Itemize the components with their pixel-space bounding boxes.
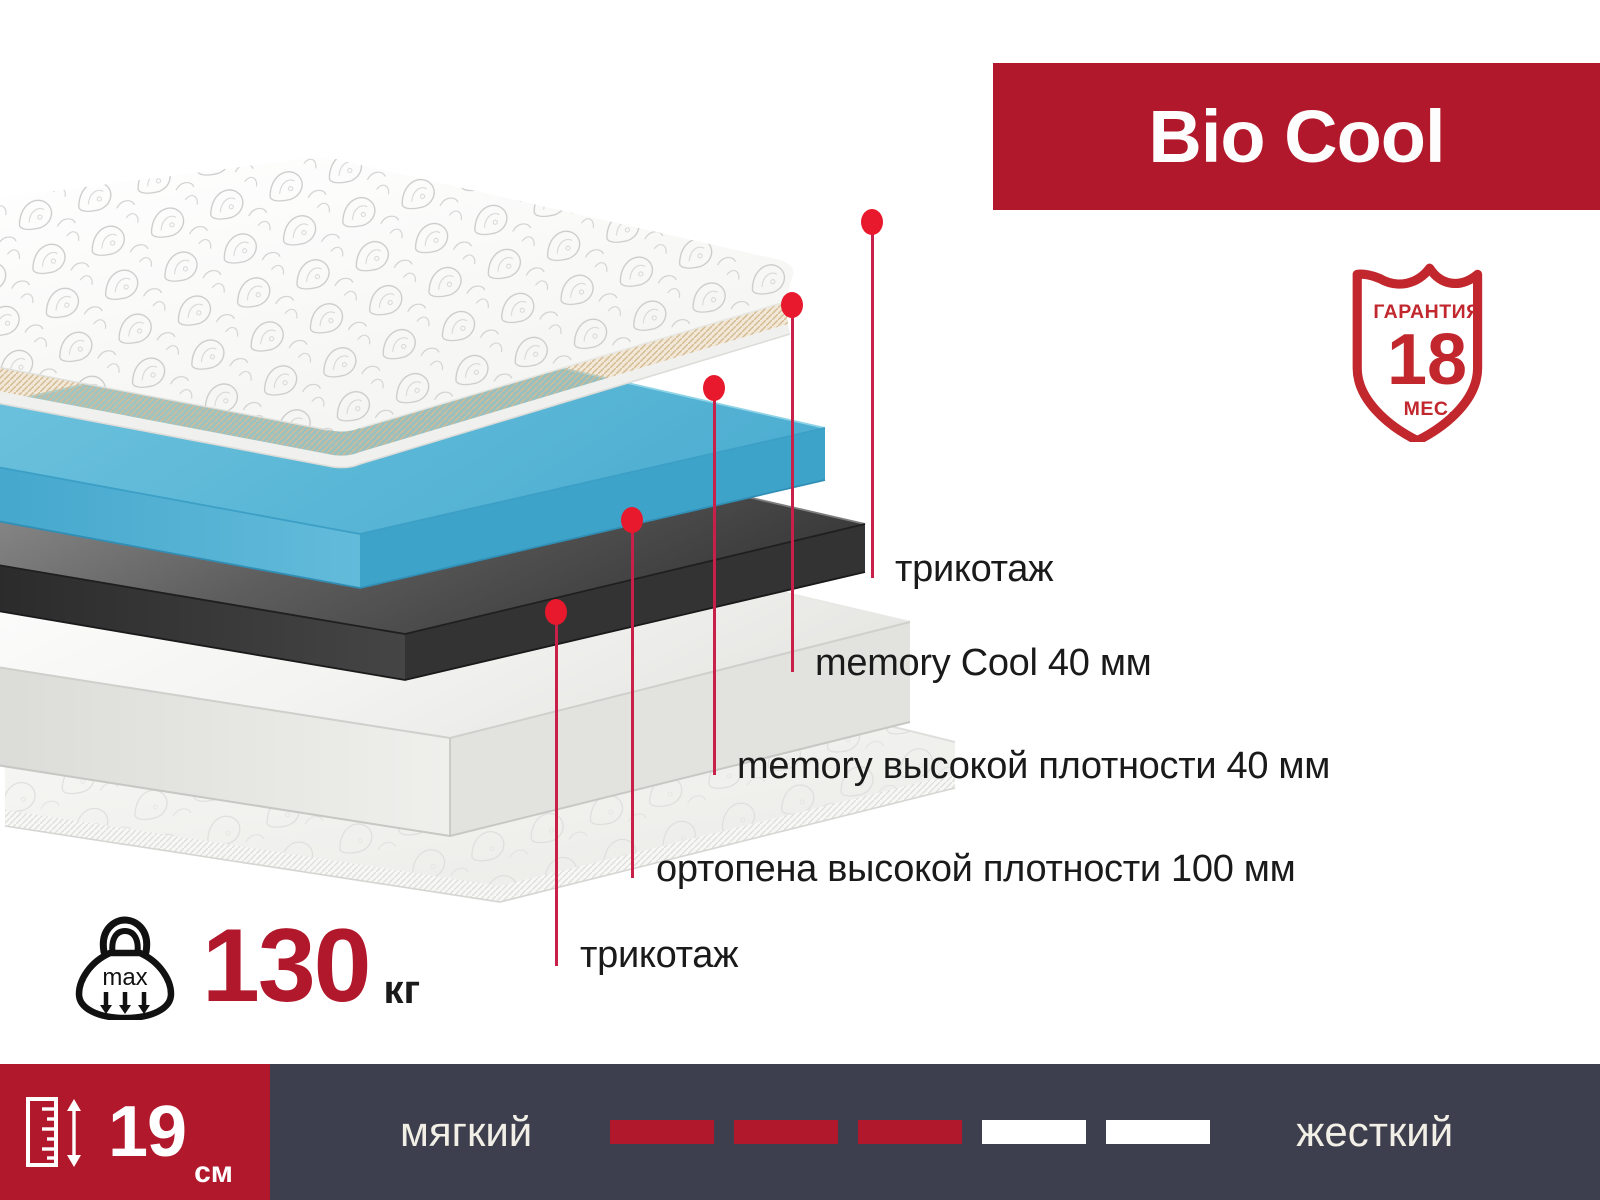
warranty-shield-badge: ГАРАНТИЯ 18 МЕС. bbox=[1330, 252, 1520, 442]
layer-dot-top-knit bbox=[861, 209, 883, 235]
firmness-segment-1 bbox=[610, 1120, 714, 1144]
layer-label-bottom-knit: трикотаж bbox=[580, 934, 738, 977]
layer-dot-memory-cool bbox=[781, 292, 803, 318]
kettlebell-icon: max bbox=[70, 912, 180, 1020]
leader-line-bottom-knit bbox=[555, 612, 558, 966]
warranty-unit: МЕС. bbox=[1404, 398, 1455, 420]
height-value: 19 bbox=[108, 1096, 186, 1168]
leader-line-memory-hd bbox=[713, 388, 716, 775]
max-load-block: max 130 кг bbox=[70, 912, 420, 1020]
layer-dot-memory-hd bbox=[703, 375, 725, 401]
product-title-banner: Bio Cool bbox=[993, 63, 1600, 210]
height-unit: см bbox=[194, 1158, 233, 1200]
layer-label-orthofoam: ортопена высокой плотности 100 мм bbox=[656, 848, 1295, 891]
kettlebell-max-text: max bbox=[102, 964, 147, 991]
infographic-canvas: трикотаж memory Cool 40 мм memory высоко… bbox=[0, 0, 1600, 1200]
layer-label-memory-cool: memory Cool 40 мм bbox=[815, 642, 1151, 685]
max-load-value: 130 bbox=[202, 914, 370, 1018]
mattress-cross-section-illustration bbox=[0, 110, 960, 920]
leader-line-memory-cool bbox=[791, 305, 794, 672]
max-load-unit: кг bbox=[384, 970, 421, 1020]
firmness-soft-label: мягкий bbox=[400, 1111, 532, 1153]
firmness-hard-label: жесткий bbox=[1296, 1111, 1453, 1153]
height-spec-block: 19 см bbox=[0, 1064, 270, 1200]
firmness-segment-2 bbox=[734, 1120, 838, 1144]
leader-line-orthofoam bbox=[631, 520, 634, 878]
leader-line-top-knit bbox=[871, 222, 874, 578]
layer-dot-orthofoam bbox=[621, 507, 643, 533]
layer-dot-bottom-knit bbox=[545, 599, 567, 625]
firmness-scale-block: мягкий жесткий bbox=[270, 1064, 1600, 1200]
firmness-segment-3 bbox=[858, 1120, 962, 1144]
firmness-scale bbox=[610, 1120, 1230, 1144]
firmness-segment-5 bbox=[1106, 1120, 1210, 1144]
bottom-spec-bar: 19 см мягкий жесткий bbox=[0, 1064, 1600, 1200]
ruler-height-icon bbox=[22, 1091, 94, 1173]
firmness-segment-4 bbox=[982, 1120, 1086, 1144]
product-title: Bio Cool bbox=[1148, 100, 1444, 174]
layer-label-memory-hd: memory высокой плотности 40 мм bbox=[737, 745, 1330, 788]
warranty-value: 18 bbox=[1387, 320, 1467, 400]
layer-label-top-knit: трикотаж bbox=[895, 548, 1053, 591]
